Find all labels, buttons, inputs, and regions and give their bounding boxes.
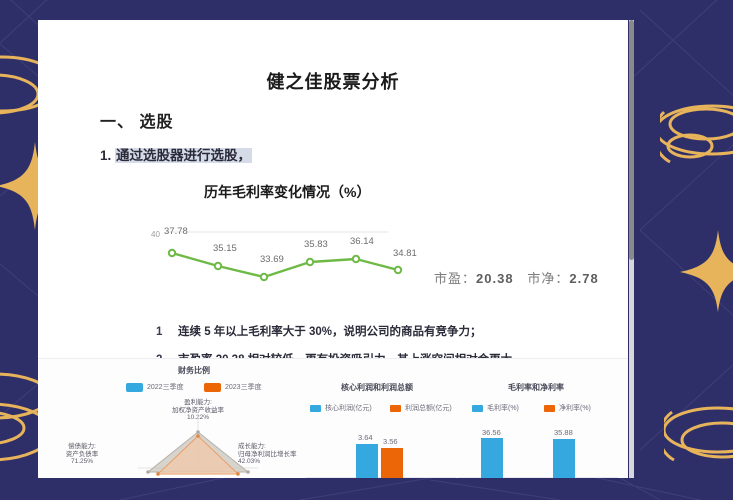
sub-line-number: 1.: [100, 148, 111, 163]
radar-legend-label-2022: 2022三季度: [147, 382, 184, 392]
gold-ornament-ellipses-top-right: [660, 90, 733, 186]
radar-chart-plot: [130, 406, 266, 478]
margin-legend-label-gross: 毛利率(%): [487, 403, 519, 413]
core-profit-value-label-total: 3.56: [383, 437, 398, 446]
pb-value: 2.78: [569, 271, 598, 286]
radar-axis-label-solvency: 偿债能力: 资产负债率 71.25%: [44, 443, 120, 466]
financial-dashboard-panel: 财务比例 2022三季度 2023三季度 盈利能力: 加权净资产收益率 10.2…: [38, 358, 628, 478]
scrollbar-thumb[interactable]: [629, 20, 634, 260]
section-heading: 一、 选股: [100, 108, 173, 132]
margin-value-label-gross: 36.56: [482, 428, 501, 437]
line-chart-title: 历年毛利率变化情况（%）: [204, 182, 370, 202]
radar-legend-2022: 2022三季度: [126, 382, 184, 392]
sub-line: 1. 通过选股器进行选股，: [100, 144, 252, 164]
line-point-label-6: 34.81: [393, 248, 417, 259]
legend-swatch-gross-margin: [472, 405, 483, 412]
legend-swatch-2022: [126, 383, 143, 392]
legend-swatch-core-profit: [310, 405, 321, 412]
margin-legend-gross: 毛利率(%): [472, 403, 519, 413]
margin-value-label-net: 35.88: [554, 428, 573, 437]
core-profit-chart-title: 核心利润和利润总额: [341, 382, 413, 393]
radar-legend-2023: 2023三季度: [204, 382, 262, 392]
pe-value: 20.38: [476, 271, 514, 286]
slide-viewer: 健之佳股票分析 一、 选股 1. 通过选股器进行选股， 历年毛利率变化情况（%）…: [0, 0, 733, 500]
pb-label: 市净：: [527, 271, 569, 286]
margin-bar-net: [553, 439, 575, 478]
page-title: 健之佳股票分析: [38, 68, 628, 94]
sub-line-text: 通过选股器进行选股，: [115, 148, 252, 163]
legend-swatch-2023: [204, 383, 221, 392]
line-point-label-4: 35.83: [304, 239, 328, 250]
core-profit-legend-total: 利润总额(亿元): [390, 403, 452, 413]
core-profit-legend-label-total: 利润总额(亿元): [405, 403, 452, 413]
line-point-label-1: 37.78: [164, 226, 188, 237]
core-profit-value-label-core: 3.64: [358, 433, 373, 442]
panel-divider: [38, 358, 628, 359]
margin-legend-net: 净利率(%): [544, 403, 591, 413]
bullet-item-1: 1连续 5 年以上毛利率大于 30%，说明公司的商品有竞争力；: [156, 323, 482, 339]
margin-bar-gross: [481, 438, 503, 478]
line-point-label-5: 36.14: [350, 236, 374, 247]
bullet-number-1: 1: [156, 326, 178, 338]
core-profit-legend-core: 核心利润(亿元): [310, 403, 372, 413]
radar-chart-title: 财务比例: [178, 365, 210, 376]
core-profit-bar-core: [356, 444, 378, 478]
margin-chart-title: 毛利率和净利率: [508, 382, 564, 393]
line-point-label-3: 33.69: [260, 254, 284, 265]
bullet-text-1: 连续 5 年以上毛利率大于 30%，说明公司的商品有竞争力；: [178, 326, 482, 338]
pe-label: 市盈：: [434, 271, 476, 286]
margin-legend-label-net: 净利率(%): [559, 403, 591, 413]
core-profit-legend-label-core: 核心利润(亿元): [325, 403, 372, 413]
valuation-ratios: 市盈：20.38 市净：2.78: [434, 268, 599, 287]
legend-swatch-total-profit: [390, 405, 401, 412]
radar-legend-label-2023: 2023三季度: [225, 382, 262, 392]
legend-swatch-net-margin: [544, 405, 555, 412]
core-profit-bar-total: [381, 448, 403, 478]
line-point-label-2: 35.15: [213, 243, 237, 254]
gold-ornament-ellipses-bottom-right: [664, 392, 733, 492]
gold-ornament-four-point-star-right: [678, 228, 733, 314]
